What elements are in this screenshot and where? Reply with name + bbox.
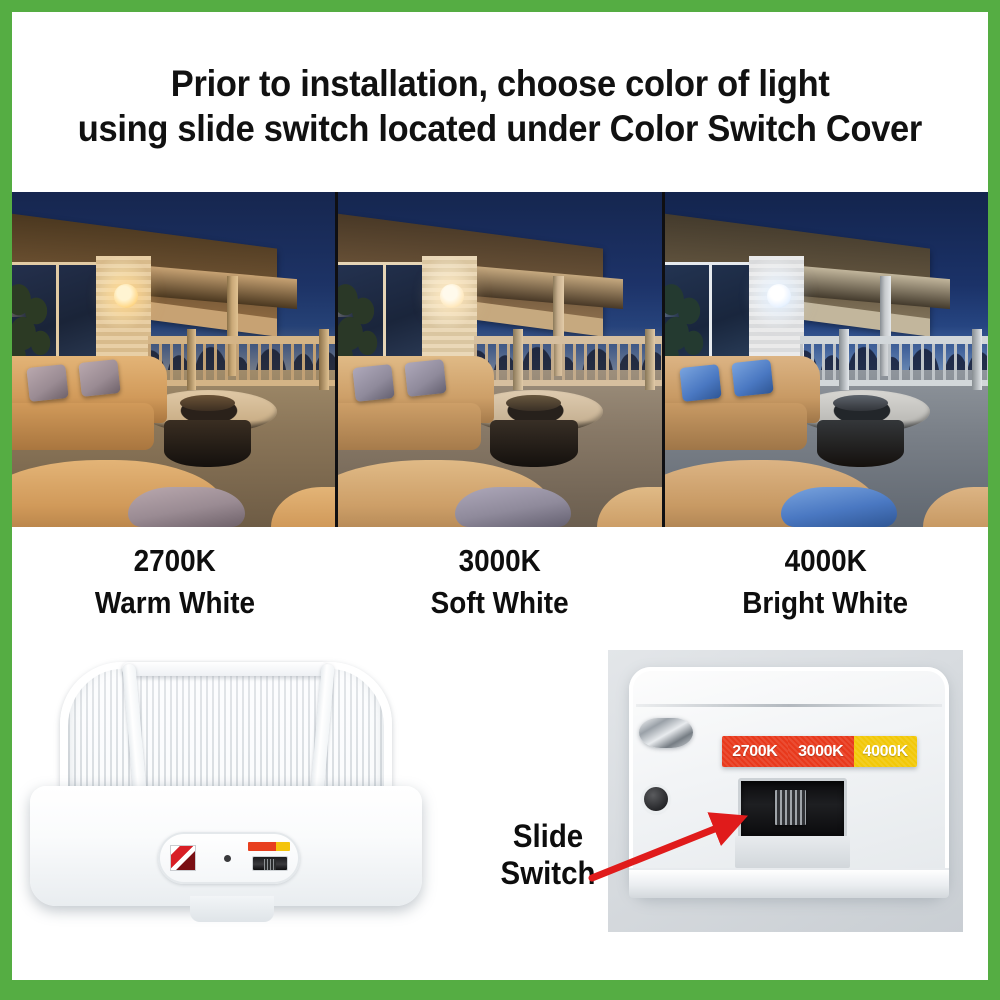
throw-pillow	[405, 359, 447, 396]
photo-panel-4000k	[665, 192, 988, 527]
rail-post-left	[513, 329, 523, 389]
inset-housing-lip	[629, 868, 949, 898]
rail-post-right	[972, 329, 982, 389]
caption-3000k: 3000K Soft White	[337, 532, 662, 644]
color-select-strip: 2700K 3000K 4000K	[722, 736, 917, 767]
caption-kelvin: 4000K	[784, 540, 866, 582]
patio-scene-soft	[338, 192, 661, 527]
headline-line-2: using slide switch located under Color S…	[78, 106, 922, 151]
throw-pillow	[78, 359, 120, 396]
photo-panel-3000k	[338, 192, 664, 527]
inset-housing: 2700K 3000K 4000K	[629, 667, 949, 898]
infographic-root: Prior to installation, choose color of l…	[0, 0, 1000, 1000]
caption-2700k: 2700K Warm White	[12, 532, 337, 644]
large-cushion	[781, 487, 897, 527]
fire-pit-base	[490, 420, 577, 467]
deck-railing	[148, 336, 336, 386]
strip-yellow-segment	[276, 842, 290, 851]
fire-pit-base	[164, 420, 251, 467]
fixture-mount-tab	[190, 896, 274, 922]
deck-railing	[800, 336, 988, 386]
caption-name: Bright White	[742, 582, 908, 624]
headline-block: Prior to installation, choose color of l…	[12, 12, 988, 186]
callout-line-1: Slide	[493, 818, 603, 855]
caption-kelvin: 2700K	[134, 540, 216, 582]
fixture-cage-top-bar	[122, 662, 328, 676]
deck-railing	[474, 336, 662, 386]
fixture-slide-switch	[252, 856, 288, 871]
slide-switch-cavity[interactable]	[738, 778, 847, 840]
color-comparison-photos	[12, 192, 988, 527]
large-cushion	[128, 487, 244, 527]
caption-kelvin: 3000K	[459, 540, 541, 582]
compartment-screw	[224, 855, 231, 862]
large-cushion	[455, 487, 571, 527]
fixture-color-strip	[248, 842, 290, 851]
inset-housing-groove	[636, 704, 943, 707]
fixture-lens-rim	[60, 662, 392, 798]
wall-sconce-light	[767, 284, 791, 308]
color-temperature-captions: 2700K Warm White 3000K Soft White 4000K …	[12, 532, 988, 644]
strip-option-3000k: 3000K	[788, 736, 854, 767]
patio-sofa-seat	[12, 403, 154, 450]
caption-name: Warm White	[95, 582, 255, 624]
rail-post-right	[319, 329, 329, 389]
product-fixture-image	[30, 660, 422, 952]
headline-line-1: Prior to installation, choose color of l…	[171, 61, 830, 106]
slide-switch-actuator[interactable]	[775, 790, 806, 825]
content-card: Prior to installation, choose color of l…	[12, 12, 988, 980]
patio-scene-bright	[665, 192, 988, 527]
rail-post-left	[839, 329, 849, 389]
patio-sofa-seat	[665, 403, 807, 450]
fire-pit-base	[817, 420, 904, 467]
throw-pillow	[731, 359, 773, 396]
rail-post-right	[645, 329, 655, 389]
switch-detail-inset: 2700K 3000K 4000K	[608, 650, 963, 932]
strip-option-2700k: 2700K	[722, 736, 788, 767]
throw-pillow	[679, 364, 721, 401]
rail-post-left	[187, 329, 197, 389]
strip-red-segment	[248, 842, 276, 851]
slide-switch-callout: Slide Switch	[488, 818, 608, 892]
slide-switch-plate	[735, 836, 850, 868]
caption-name: Soft White	[431, 582, 569, 624]
callout-line-2: Switch	[493, 855, 603, 892]
chrome-clip	[639, 718, 693, 748]
patio-scene-warm	[12, 192, 335, 527]
patio-sofa-seat	[338, 403, 480, 450]
throw-pillow	[27, 364, 69, 401]
strip-option-4000k: 4000K	[854, 736, 917, 767]
photo-panel-2700k	[12, 192, 338, 527]
caption-4000k: 4000K Bright White	[663, 532, 988, 644]
throw-pillow	[353, 364, 395, 401]
fixture-switch-compartment	[158, 832, 300, 884]
inset-screw	[644, 787, 668, 811]
warning-label-icon	[170, 845, 196, 871]
